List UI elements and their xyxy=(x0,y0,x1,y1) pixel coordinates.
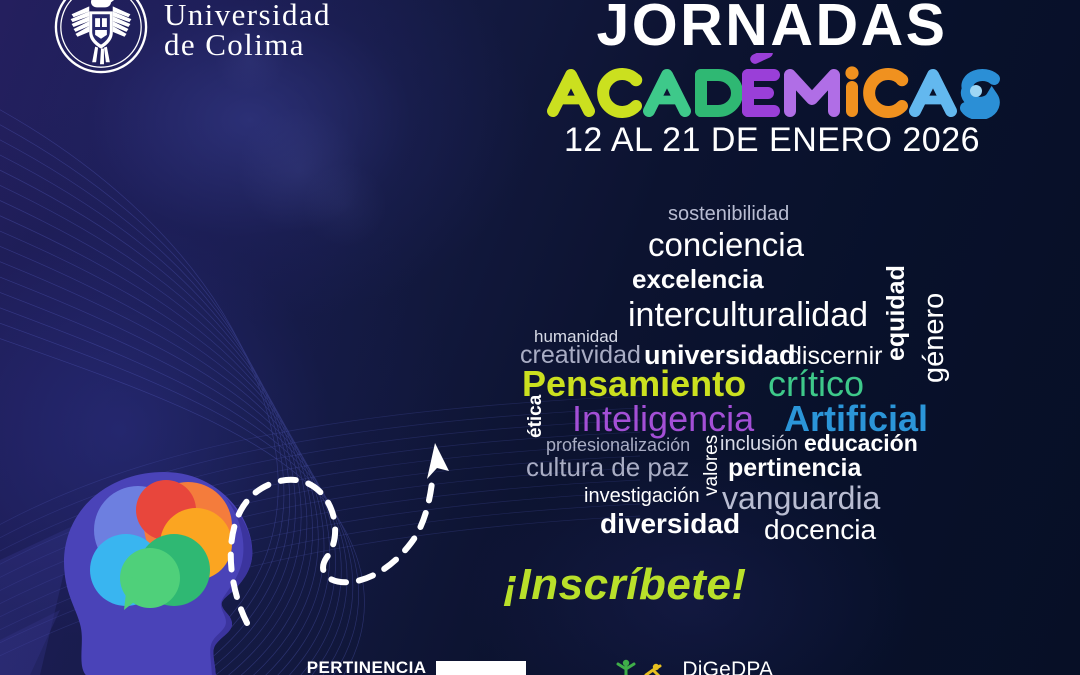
university-line1: Universidad xyxy=(164,0,331,30)
pertinencia-label: PERTINENCIA xyxy=(307,658,427,675)
academicas-lettering xyxy=(502,53,1042,119)
register-cta[interactable]: ¡Inscríbete! xyxy=(0,560,1080,610)
title-jornadas: JORNADAS xyxy=(492,0,1052,55)
wordcloud-word: excelencia xyxy=(632,266,764,292)
wordcloud-word: valores xyxy=(702,435,721,496)
wordcloud-word: equidad xyxy=(884,265,909,361)
university-of-colima-seal-icon xyxy=(52,0,150,76)
title-academicas xyxy=(492,53,1052,119)
university-wordmark: Universidad de Colima xyxy=(164,0,331,60)
register-cta-label: ¡Inscríbete! xyxy=(503,560,746,610)
wordcloud-word: investigación xyxy=(584,486,700,506)
wordcloud-word: interculturalidad xyxy=(628,298,868,332)
wordcloud-word: vanguardia xyxy=(722,482,880,514)
wordcloud-word: pertinencia xyxy=(728,456,861,481)
title-block: JORNADAS 12 AL 21 DE ENERO 2026 xyxy=(492,0,1052,160)
pertinencia-logo: PERTINENCIA xyxy=(307,658,527,675)
word-cloud: sostenibilidadconcienciaexcelenciainterc… xyxy=(516,198,968,538)
wordcloud-word: Pensamiento xyxy=(522,366,746,402)
wordcloud-word: docencia xyxy=(764,516,876,544)
wordcloud-word: diversidad xyxy=(600,510,740,538)
wordcloud-word: género xyxy=(920,293,949,383)
digedpa-figures-icon xyxy=(612,658,674,675)
wordcloud-word: cultura de paz xyxy=(526,454,689,480)
wordcloud-word: educación xyxy=(804,432,918,455)
poster-canvas: Universidad de Colima JORNADAS 12 AL 21 … xyxy=(0,0,1080,675)
digedpa-label: DiGeDPA xyxy=(682,658,773,675)
wordcloud-word: ética xyxy=(526,395,545,438)
event-dates: 12 AL 21 DE ENERO 2026 xyxy=(492,121,1052,160)
footer-logos: PERTINENCIA DiGeDPA xyxy=(0,658,1080,675)
wordcloud-word: conciencia xyxy=(648,228,804,261)
university-line2: de Colima xyxy=(164,30,331,60)
university-logo: Universidad de Colima xyxy=(52,0,331,76)
wordcloud-word: sostenibilidad xyxy=(668,204,789,224)
pertinencia-bar xyxy=(436,661,526,675)
wordcloud-word: Inteligencia xyxy=(572,401,754,437)
wordcloud-word: crítico xyxy=(768,366,864,402)
wordcloud-word: inclusión xyxy=(720,434,798,454)
digedpa-logo: DiGeDPA xyxy=(612,658,773,675)
